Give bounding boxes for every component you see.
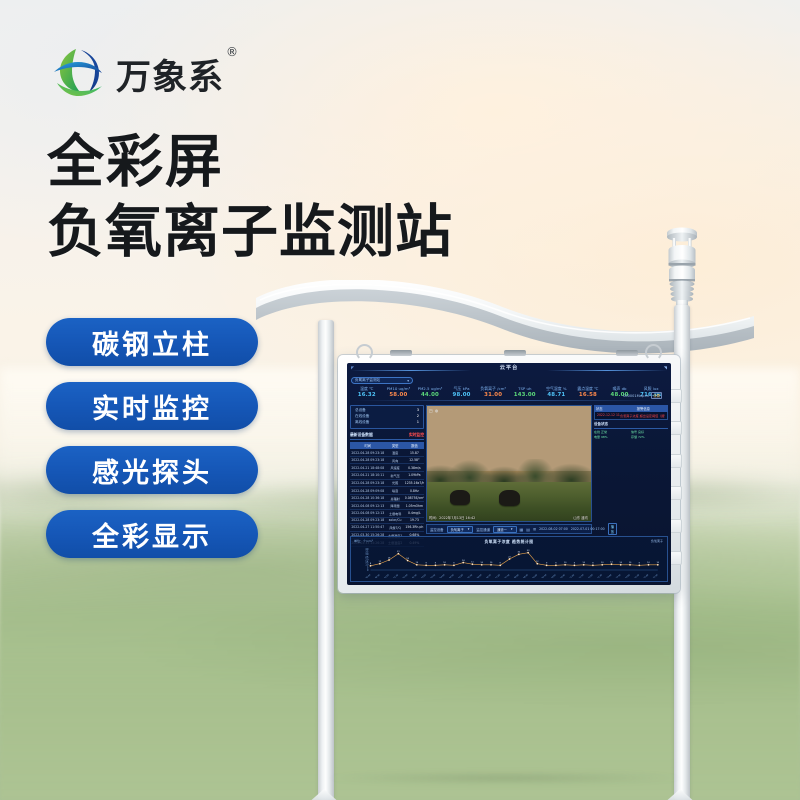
chart-xtick: 03:30 xyxy=(431,574,437,578)
calendar-icon[interactable]: ▥ xyxy=(533,527,536,531)
alarm-cell-type: 噪音 xyxy=(386,487,405,495)
metric-dew-point: 露点温度 ℃ 16.58 xyxy=(572,386,604,399)
alarm-cell-time: 2022-04-21 18:48:08 xyxy=(350,464,386,472)
registered-mark: ® xyxy=(226,45,239,59)
column-value: 数值 xyxy=(405,442,424,449)
globe-swoosh-logo xyxy=(48,46,104,102)
camera-device-select[interactable]: 负氧离子 ▾ xyxy=(447,526,474,533)
chart-point-label: 12 xyxy=(536,561,539,563)
chart-point-label: 14 xyxy=(462,560,465,562)
metric-list: 温度 ℃ 16.32 PM10 ug/m³ 58.00 PM2.5 ug/m³ … xyxy=(351,386,667,399)
feature-pill-light-sensor[interactable]: 感光探头 xyxy=(46,446,258,494)
chart-xtick: 12:00 xyxy=(588,574,594,578)
alarm-cell-value: 19.73 xyxy=(405,517,424,524)
chart-point-label: 31 xyxy=(397,551,400,553)
grid-icon[interactable]: ▦ xyxy=(520,527,524,532)
chart-point xyxy=(601,564,603,566)
metric-value: 98.00 xyxy=(446,392,478,400)
chart-xtick: 12:30 xyxy=(597,574,603,578)
alarm-cell-type: 降雨量 xyxy=(386,502,405,510)
metric-key: 负氧离子 /cm³ xyxy=(477,386,509,392)
stat-row-offline: 离线设备 1 xyxy=(355,420,419,426)
flange-base-plate-left xyxy=(287,791,361,800)
chart-point-label: 9 xyxy=(435,563,437,565)
alarm-cell-value: 0.4mg/L xyxy=(405,510,424,518)
ultrasonic-weather-sensor xyxy=(658,224,706,316)
alarm-cell-value: 0.38m/s xyxy=(405,464,424,472)
chart-point xyxy=(379,563,381,565)
chart-point xyxy=(407,560,409,562)
capture-icon[interactable]: ◳ xyxy=(429,408,433,413)
metric-humidity: 空气湿度 % 48.71 xyxy=(541,386,573,399)
stat-value: 1 xyxy=(417,420,419,426)
chart-xtick: 02:00 xyxy=(403,574,409,578)
chart-point xyxy=(629,564,631,566)
base-gusset xyxy=(307,789,341,800)
status-cell: 存储 72% xyxy=(631,435,665,439)
carbon-steel-pole-left xyxy=(318,320,334,800)
chart-point xyxy=(527,552,529,554)
alarm-cell-type: 温度 xyxy=(386,449,405,456)
chart-xtick: 14:30 xyxy=(634,574,640,578)
monitoring-station: ◤ ◥ 云平台 负氧离子监测站 ▾ 000001Map.cn 设置 xyxy=(250,225,760,785)
time-from: 2022-08-02 07:00 xyxy=(539,527,568,531)
metric-value: 44.00 xyxy=(414,392,446,400)
alarm-cell-type: 风向 xyxy=(386,456,405,464)
dashboard-body: 总设备 3 在线设备 2 离线设备 1 xyxy=(347,403,671,536)
chart-xtick: 15:00 xyxy=(644,574,650,578)
camera-subject-cow xyxy=(450,490,470,505)
chart-xtick: 05:00 xyxy=(458,574,464,578)
snapshot-icon[interactable]: ◍ xyxy=(435,408,439,413)
chart-point xyxy=(453,565,455,567)
chart-point-label: 9 xyxy=(555,563,557,565)
camera-feed[interactable]: ◳ ◍ 时间：2022年7月13日 16:42 山东 潍坊 xyxy=(426,405,592,522)
chart-point-label: 9 xyxy=(592,563,594,565)
corner-right-icon: ◥ xyxy=(664,365,667,370)
dashboard-screen: ◤ ◥ 云平台 负氧离子监测站 ▾ 000001Map.cn 设置 xyxy=(347,363,671,585)
metric-pressure: 气压 kPa 98.00 xyxy=(446,386,478,399)
cloud-settings-button[interactable]: 设置 xyxy=(651,392,662,399)
chart-xtick: 13:30 xyxy=(616,574,622,578)
chart-point xyxy=(425,565,427,567)
device-status-grid: 在线 正常 信号 良好 电量 98% 存储 72% xyxy=(594,429,668,439)
chart-unit-label: 单位：个/cm³ xyxy=(354,539,373,543)
alarm-cell-type: 总辐射 xyxy=(386,494,405,502)
chart-xtick: 04:00 xyxy=(440,574,446,578)
alarm-cell-time: 2022-04-08 09:12:13 xyxy=(350,502,386,510)
list-icon[interactable]: ▤ xyxy=(526,527,530,532)
chart-xtick: 03:00 xyxy=(421,574,427,578)
corner-left-icon: ◤ xyxy=(351,365,354,370)
alarm-message: 负氧离子浓度 超出设定阈值（报警） xyxy=(620,413,665,418)
table-row[interactable]: 2022-04-28 10:36:18总辐射0.0875E/cm² xyxy=(350,494,424,502)
chevron-down-icon: ▾ xyxy=(511,527,513,531)
alarm-time: 2022-12-12 11:52 xyxy=(597,413,620,418)
chart-point xyxy=(648,564,650,566)
brand-name-text: 万象系 xyxy=(116,58,224,98)
chart-point-label: 10 xyxy=(619,562,622,564)
chevron-down-icon: ▾ xyxy=(468,527,470,531)
metric-separator xyxy=(353,400,665,401)
header-rule-right xyxy=(547,370,667,371)
table-row[interactable]: 2022-04-08 09:12:13土壤电导0.4mg/L xyxy=(350,510,424,518)
cabinet-mount-tab xyxy=(616,350,638,356)
chart-point xyxy=(574,565,576,567)
table-row[interactable]: 2022-04-28 09:09:08噪音0.8Hz xyxy=(350,487,424,495)
chart-xtick: 06:00 xyxy=(477,574,483,578)
metric-value: 31.00 xyxy=(477,392,509,400)
cabinet-mount-tab xyxy=(390,350,412,356)
station-selector-value: 负氧离子监测站 xyxy=(355,378,380,383)
alarm-cell-type: 新气压 xyxy=(386,472,405,480)
alarm-cell-value: 0.0875E/cm² xyxy=(405,494,424,502)
camera-timestamp: 时间：2022年7月13日 16:42 xyxy=(429,515,475,520)
chart-point xyxy=(499,565,501,567)
camera-device-value: 负氧离子 xyxy=(451,527,464,532)
chart-xtick: 14:00 xyxy=(625,574,631,578)
chart-xtick: 02:30 xyxy=(412,574,418,578)
alarm-cell-type: solar/Cu xyxy=(386,517,405,524)
table-row[interactable]: 2022-04-21 18:10:11新气压1.09kPa xyxy=(350,472,424,480)
alarm-cell-value: 1.05mOhm xyxy=(405,502,424,510)
product-poster: 万象系 ® 全彩屏 负氧离子监测站 碳钢立柱 实时监控 感光探头 全彩显示 xyxy=(0,0,800,800)
alarm-cell-value: 0.8Hz xyxy=(405,487,424,495)
chart-line xyxy=(371,553,658,566)
latest-data-header: 最新设备数据 实时监控 xyxy=(350,432,424,440)
chart-xtick: 09:30 xyxy=(542,574,548,578)
chart-xtick: 11:00 xyxy=(570,574,576,578)
brand-lockup: 万象系 ® xyxy=(48,46,224,102)
table-header-row: 时间 类型 数值 xyxy=(350,442,424,449)
trend-chart: 单位：个/cm³ 负氧离子 负氧离子浓度 趋势统计图 4035302520151… xyxy=(350,536,668,582)
metric-negative-ion: 负氧离子 /cm³ 31.00 xyxy=(477,386,509,399)
status-cell: 信号 良好 xyxy=(631,430,665,434)
camera-panel: ◳ ◍ 时间：2022年7月13日 16:42 山东 潍坊 监控设备 负氧离子 … xyxy=(426,405,592,534)
table-body: 2022-04-28 09:23:18温度15.872022-04-28 09:… xyxy=(350,449,424,546)
chart-point-label: 9 xyxy=(574,563,576,565)
alarm-cell-type: 土壤电导 xyxy=(386,510,405,518)
chart-point-label: 11 xyxy=(471,562,474,564)
chart-xtick: 09:00 xyxy=(532,574,538,578)
latest-data-table: 时间 类型 数值 2022-04-28 09:23:18温度15.872022-… xyxy=(350,442,424,547)
chart-point xyxy=(370,565,372,567)
feature-pill-realtime-monitoring[interactable]: 实时监控 xyxy=(46,382,258,430)
device-status-panel: 设备状态 在线 正常 信号 良好 电量 98% 存储 72% xyxy=(594,422,668,439)
metric-value: 16.32 xyxy=(351,392,383,400)
metric-value: 143.00 xyxy=(509,392,541,400)
left-panel: 总设备 3 在线设备 2 离线设备 1 xyxy=(350,405,424,534)
camera-controls[interactable]: ◳ ◍ xyxy=(429,408,438,413)
chart-point-label: 10 xyxy=(480,562,483,564)
alarm-cell-type: 风速度 xyxy=(386,464,405,472)
chart-point xyxy=(638,565,640,567)
chart-point-label: 10 xyxy=(601,562,604,564)
chart-xtick: 01:00 xyxy=(384,574,390,578)
feature-pill-list: 碳钢立柱 实时监控 感光探头 全彩显示 xyxy=(46,318,258,558)
alarm-cell-type: 光照 xyxy=(386,479,405,487)
chart-point xyxy=(555,565,557,567)
alarm-cell-time: 2022-04-28 09:23:18 xyxy=(350,517,386,524)
chart-point-label: 18 xyxy=(406,558,409,560)
chart-point-label: 10 xyxy=(564,562,567,564)
chart-xtick: 04:30 xyxy=(449,574,455,578)
table-row[interactable]: 2022-04-28 09:23:18solar/Cu19.73 xyxy=(350,517,424,524)
chart-point xyxy=(509,558,511,560)
chart-point xyxy=(481,564,483,566)
alarm-log-header: 状态 报警信息 xyxy=(594,405,668,412)
flange-base-plate-right xyxy=(643,791,717,800)
chart-point-label: 10 xyxy=(416,562,419,564)
chart-xtick: 10:00 xyxy=(551,574,557,578)
chart-point-label: 9 xyxy=(639,563,641,565)
log-column-status: 状态 xyxy=(594,405,619,412)
table-row[interactable]: 2022-04-27 11:50:47风像T/Q156.3Rh.ph xyxy=(350,524,424,532)
chart-xtick: 07:00 xyxy=(495,574,501,578)
chart-point-label: 10 xyxy=(443,562,446,564)
chart-xtick: 05:30 xyxy=(468,574,474,578)
status-cell: 在线 正常 xyxy=(594,430,628,434)
alarm-cell-value: 1.09kPa xyxy=(405,472,424,480)
column-time: 时间 xyxy=(350,442,386,449)
chart-point-label: 10 xyxy=(629,562,632,564)
chart-xtick: 11:30 xyxy=(579,574,585,578)
chart-point xyxy=(546,565,548,567)
camera-toolbar: 监控设备 负氧离子 ▾ 监控通道 通道一 ▾ ▦ ▤ xyxy=(426,524,592,534)
table-row[interactable]: 2022-04-28 09:23:18温度15.87 xyxy=(350,449,424,456)
chart-point xyxy=(462,562,464,564)
chart-point-label: 9 xyxy=(425,563,427,565)
chart-point xyxy=(490,564,492,566)
alarm-cell-time: 2022-04-28 10:36:18 xyxy=(350,494,386,502)
chart-point-label: 8 xyxy=(370,563,372,565)
chart-xtick: 08:00 xyxy=(514,574,520,578)
feature-pill-carbon-steel-pole[interactable]: 碳钢立柱 xyxy=(46,318,258,366)
chart-point xyxy=(583,564,585,566)
metric-temperature: 温度 ℃ 16.32 xyxy=(351,386,383,399)
device-stats-box: 总设备 3 在线设备 2 离线设备 1 xyxy=(350,405,424,429)
metric-key: PM10 ug/m³ xyxy=(383,386,415,392)
chart-xtick: 10:30 xyxy=(560,574,566,578)
chart-point xyxy=(518,554,520,556)
chart-point xyxy=(592,565,594,567)
alarm-cell-time: 2022-04-21 18:10:11 xyxy=(350,472,386,480)
chart-point-label: 10 xyxy=(656,562,659,564)
cloud-account-tag[interactable]: 000001Map.cn 设置 xyxy=(623,392,662,399)
camera-channel-value: 通道一 xyxy=(497,527,507,532)
chart-point xyxy=(398,553,400,555)
dashboard-title: 云平台 xyxy=(500,364,519,371)
metric-pm25: PM2.5 ug/m³ 44.00 xyxy=(414,386,446,399)
metric-pm10: PM10 ug/m³ 58.00 xyxy=(383,386,415,399)
cabinet-hook-icon xyxy=(356,344,373,361)
chart-point-label: 30 xyxy=(518,552,521,554)
metric-key: PM2.5 ug/m³ xyxy=(414,386,446,392)
column-type: 类型 xyxy=(386,442,405,449)
display-cabinet: ◤ ◥ 云平台 负氧离子监测站 ▾ 000001Map.cn 设置 xyxy=(338,355,680,593)
headline-line-1: 全彩屏 xyxy=(47,128,453,198)
chart-xtick: 08:30 xyxy=(523,574,529,578)
chart-legend: 负氧离子 xyxy=(651,539,663,543)
realtime-monitor-link[interactable]: 实时监控 xyxy=(409,432,424,438)
camera-location: 山东 潍坊 xyxy=(573,515,588,520)
right-panel: 状态 报警信息 2022-12-12 11:52 负氧离子浓度 超出设定阈值（报… xyxy=(594,405,668,534)
cabinet-mount-tab xyxy=(504,350,526,356)
chart-point xyxy=(620,564,622,566)
chart-xtick: 00:00 xyxy=(366,574,372,578)
alarm-cell-value: 15.87 xyxy=(405,449,424,456)
table-row[interactable]: 2022-04-28 09:23:18风向12.58° xyxy=(350,456,424,464)
chart-point xyxy=(657,564,659,566)
metric-value: 58.00 xyxy=(383,392,415,400)
header-rule-left xyxy=(351,370,471,371)
chart-point xyxy=(472,563,474,565)
alarm-cell-value: 12.58° xyxy=(405,456,424,464)
table-row[interactable]: 2022-04-28 09:23:18光照1235.16x7/h xyxy=(350,479,424,487)
chart-point-label: 9 xyxy=(546,563,548,565)
alarm-cell-time: 2022-04-28 09:09:08 xyxy=(350,487,386,495)
chart-point-label: 10 xyxy=(647,562,650,564)
metric-value: 48.71 xyxy=(541,392,573,400)
chart-xtick: 07:30 xyxy=(505,574,511,578)
camera-subject-cow xyxy=(499,490,520,506)
device-status-title: 设备状态 xyxy=(594,422,668,429)
table-row[interactable]: 2022-04-08 09:12:13降雨量1.05mOhm xyxy=(350,502,424,510)
chart-point-label: 10 xyxy=(582,562,585,564)
cabinet-hook-icon xyxy=(645,344,662,361)
chart-xtick: 13:00 xyxy=(607,574,613,578)
chart-point xyxy=(536,563,538,565)
alarm-log-body: 2022-12-12 11:52 负氧离子浓度 超出设定阈值（报警） xyxy=(594,412,668,420)
alarm-cell-time: 2022-04-28 09:23:18 xyxy=(350,449,386,456)
ground-shadow xyxy=(255,770,755,786)
metric-value: 16.58 xyxy=(572,392,604,400)
chart-canvas: 4035302520151050800:001200:301901:003101… xyxy=(354,545,664,578)
camera-channel-select[interactable]: 通道一 ▾ xyxy=(493,526,517,533)
chart-point-label: 9 xyxy=(453,563,455,565)
alarm-cell-value: 1235.16x7/h xyxy=(405,479,424,487)
metric-strip: 负氧离子监测站 ▾ 000001Map.cn 设置 温度 ℃ 16.32 xyxy=(347,376,671,403)
log-column-message: 报警信息 xyxy=(619,405,668,412)
chevron-down-icon: ▾ xyxy=(407,379,409,383)
cloud-account-text: 000001Map.cn xyxy=(623,394,649,398)
alarm-cell-time: 2022-04-28 09:23:18 xyxy=(350,456,386,464)
chart-point xyxy=(611,563,613,565)
chart-point xyxy=(435,565,437,567)
alarm-cell-time: 2022-04-08 09:12:13 xyxy=(350,510,386,518)
chart-point xyxy=(388,559,390,561)
station-selector[interactable]: 负氧离子监测站 ▾ xyxy=(351,377,413,384)
base-gusset xyxy=(663,789,697,800)
alarm-log-row: 2022-12-12 11:52 负氧离子浓度 超出设定阈值（报警） xyxy=(595,412,667,419)
status-cell: 电量 98% xyxy=(594,435,628,439)
brand-name: 万象系 ® xyxy=(116,49,224,100)
chart-xtick: 00:30 xyxy=(375,574,381,578)
latest-data-title: 最新设备数据 xyxy=(350,432,373,438)
alarm-cell-time: 2022-04-27 11:50:47 xyxy=(350,524,386,532)
camera-device-label: 监控设备 xyxy=(430,527,444,532)
chart-point xyxy=(416,564,418,566)
chart-point xyxy=(564,564,566,566)
feature-pill-full-color-display[interactable]: 全彩显示 xyxy=(46,510,258,558)
chart-point xyxy=(444,564,446,566)
camera-channel-label: 监控通道 xyxy=(476,527,490,532)
chart-point-label: 11 xyxy=(610,562,613,564)
chart-ytick: 0 xyxy=(367,569,369,572)
alarm-cell-value: 156.3Rh.ph xyxy=(405,524,424,532)
chart-point-label: 33 xyxy=(527,550,530,552)
alarm-cell-time: 2022-04-28 09:23:18 xyxy=(350,479,386,487)
stat-label: 离线设备 xyxy=(355,420,369,426)
chart-point-label: 10 xyxy=(490,562,493,564)
dashboard-header: ◤ ◥ 云平台 xyxy=(347,363,671,376)
table-row[interactable]: 2022-04-21 18:48:08风速度0.38m/s xyxy=(350,464,424,472)
chart-xtick: 06:30 xyxy=(486,574,492,578)
chart-xtick: 01:30 xyxy=(393,574,399,578)
chart-xtick: 15:30 xyxy=(653,574,659,578)
metric-tsp: TSP uh 143.00 xyxy=(509,386,541,399)
alarm-cell-type: 风像T/Q xyxy=(386,524,405,532)
